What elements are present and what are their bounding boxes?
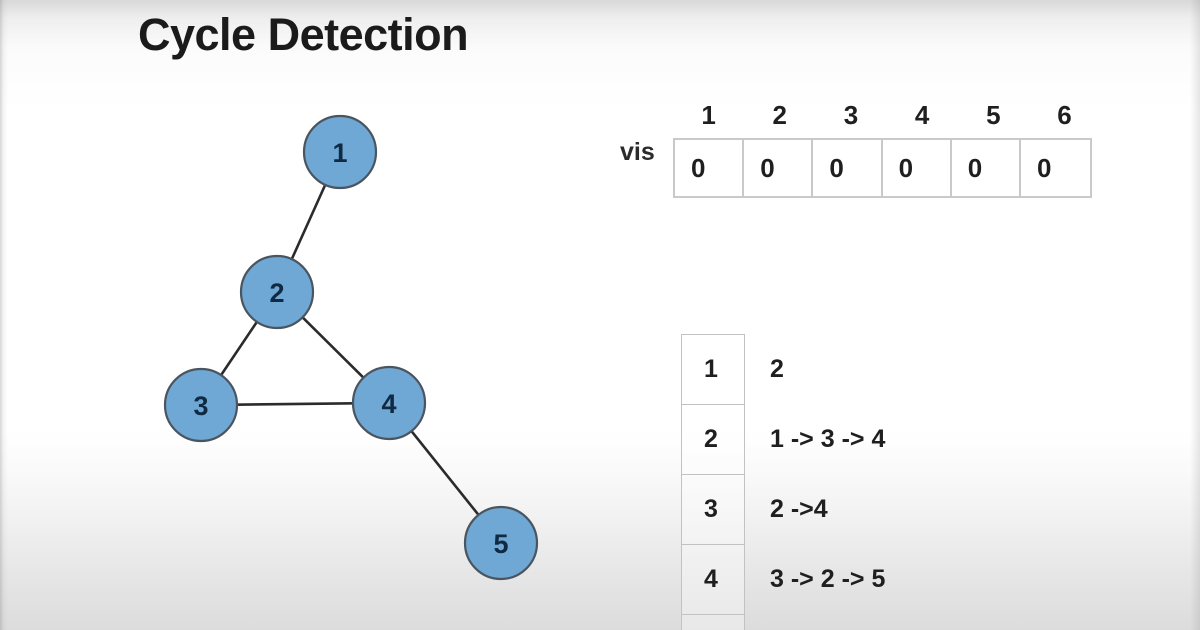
adjacency-list-value-4: 3 -> 2 -> 5 [745,565,885,594]
right-edge-shading [1190,0,1200,630]
graph-node-label-2: 2 [269,278,284,308]
vis-array-block: vis 123456 000000 [612,100,1112,210]
adjacency-list-index-2: 2 [681,404,745,474]
vis-array-headers: 123456 [673,100,1100,131]
graph-node-5[interactable]: 5 [465,507,537,579]
vis-array-label: vis [620,138,655,167]
adjacency-list-index-5: 5 [681,614,745,630]
slide-canvas: Cycle Detection 12345 vis 123456 000000 … [0,0,1200,630]
adjacency-list-value-1: 2 [745,355,784,384]
adjacency-list-table: 1221 -> 3 -> 432 ->443 -> 2 -> 55 [681,334,1101,630]
vis-array-header-1: 1 [673,100,744,131]
adjacency-list-value-2: 1 -> 3 -> 4 [745,425,885,454]
graph-node-4[interactable]: 4 [353,367,425,439]
graph-node-3[interactable]: 3 [165,369,237,441]
vis-array-cell-1[interactable]: 0 [675,140,744,196]
adjacency-list-row: 5 [681,614,1101,630]
vis-array-cell-3[interactable]: 0 [813,140,882,196]
vis-array-cells: 000000 [673,138,1092,198]
graph-edge-3-4 [235,403,355,404]
vis-array-cell-4[interactable]: 0 [883,140,952,196]
vis-array-header-6: 6 [1029,100,1100,131]
adjacency-list-value-3: 2 ->4 [745,495,828,524]
vis-array-header-3: 3 [815,100,886,131]
graph-node-1[interactable]: 1 [304,116,376,188]
adjacency-list-row: 43 -> 2 -> 5 [681,544,1101,614]
adjacency-list-row: 12 [681,334,1101,404]
graph-node-label-3: 3 [193,391,208,421]
vis-array-cell-5[interactable]: 0 [952,140,1021,196]
graph-edge-1-2 [291,183,326,261]
graph-svg: 12345 [0,0,620,630]
adjacency-list-row: 32 ->4 [681,474,1101,544]
graph-node-label-5: 5 [493,529,508,559]
graph-edge-2-3 [220,320,258,377]
vis-array-header-5: 5 [958,100,1029,131]
vis-array-header-4: 4 [887,100,958,131]
adjacency-list-row: 21 -> 3 -> 4 [681,404,1101,474]
graph-node-group: 12345 [165,116,537,579]
graph-node-2[interactable]: 2 [241,256,313,328]
adjacency-list-index-4: 4 [681,544,745,614]
graph-node-label-1: 1 [332,138,347,168]
vis-array-cell-6[interactable]: 0 [1021,140,1090,196]
adjacency-list-index-1: 1 [681,334,745,404]
graph-node-label-4: 4 [381,389,396,419]
vis-array-header-2: 2 [744,100,815,131]
graph-edge-2-4 [301,316,365,379]
graph-edge-group [220,183,480,516]
graph-diagram: 12345 [0,0,620,630]
vis-array-cell-2[interactable]: 0 [744,140,813,196]
adjacency-list-index-3: 3 [681,474,745,544]
graph-edge-4-5 [410,430,480,517]
